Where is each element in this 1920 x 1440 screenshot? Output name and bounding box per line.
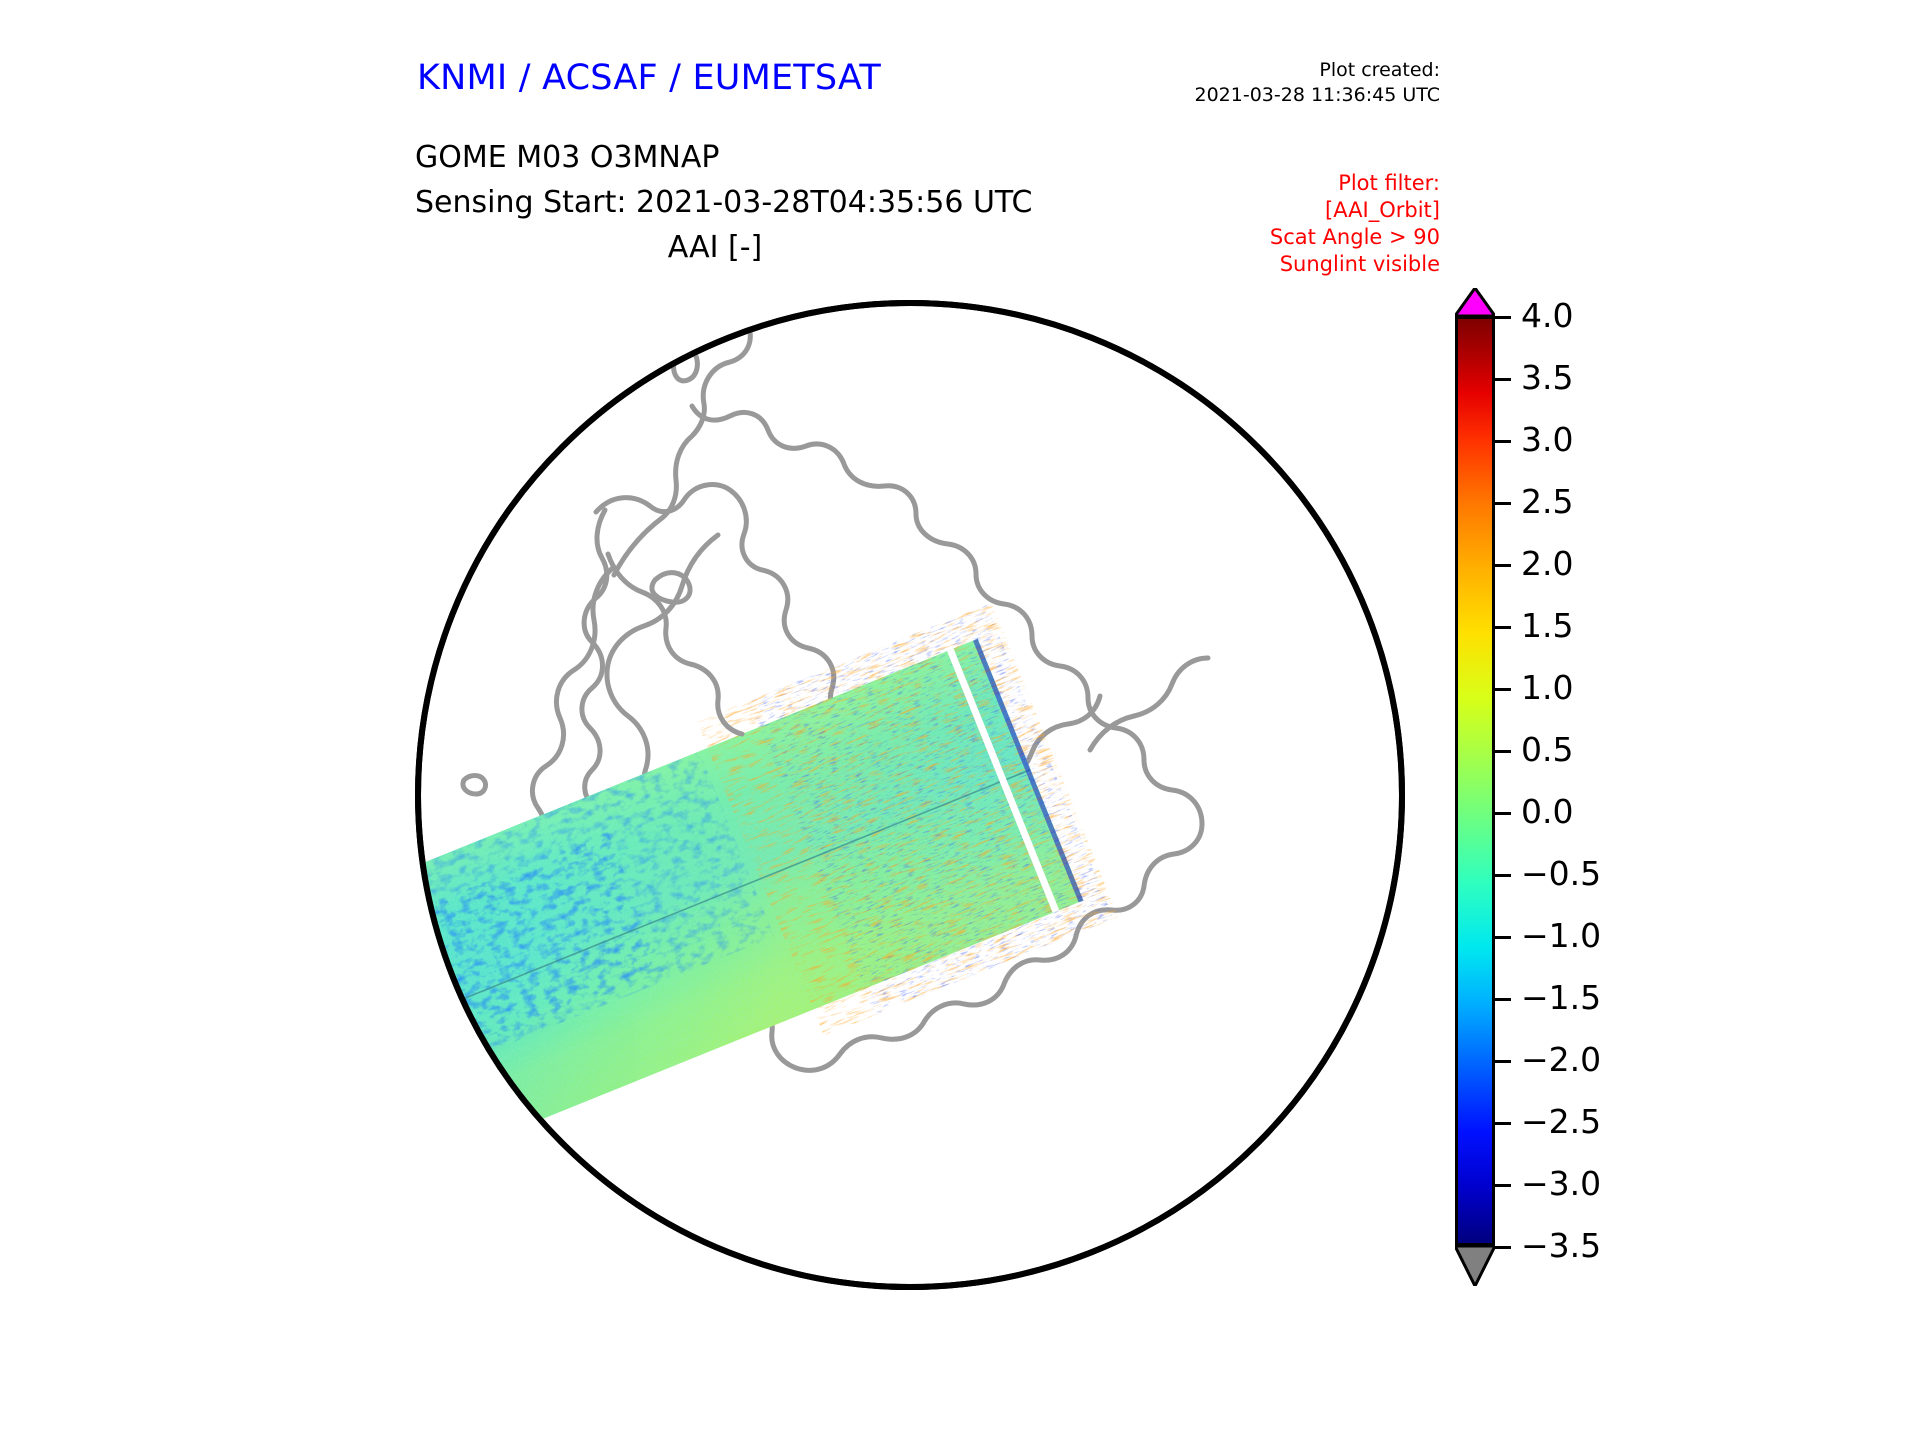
colorbar-label-neg3.5: −3.5	[1521, 1229, 1601, 1262]
colorbar-label-3.0: 3.0	[1521, 423, 1573, 456]
colorbar-under-arrow	[1455, 1246, 1495, 1286]
colorbar-tick	[1495, 1060, 1511, 1063]
colorbar-label-0.5: 0.5	[1521, 733, 1573, 766]
colorbar-tick	[1495, 440, 1511, 443]
colorbar-tick	[1495, 998, 1511, 1001]
colorbar-tick	[1495, 1184, 1511, 1187]
colorbar-tick	[1495, 1246, 1511, 1249]
product-title: GOME M03 O3MNAP	[415, 140, 719, 175]
colorbar-label-4.0: 4.0	[1521, 299, 1573, 332]
plot-filter-sunglint: Sunglint visible	[1020, 251, 1440, 278]
colorbar-label-neg2.0: −2.0	[1521, 1043, 1601, 1076]
plot-filter-name: [AAI_Orbit]	[1020, 197, 1440, 224]
map-plot-area	[400, 280, 1420, 1310]
plot-created-block: Plot created: 2021-03-28 11:36:45 UTC	[1020, 58, 1440, 108]
colorbar-label-neg1.0: −1.0	[1521, 919, 1601, 952]
colorbar-label-2.0: 2.0	[1521, 547, 1573, 580]
colorbar-label-2.5: 2.5	[1521, 485, 1573, 518]
colorbar-tick	[1495, 936, 1511, 939]
plot-created-label: Plot created:	[1020, 58, 1440, 83]
colorbar-label-neg3.0: −3.0	[1521, 1167, 1601, 1200]
plot-filter-scat-angle: Scat Angle > 90	[1020, 224, 1440, 251]
plot-filter-label: Plot filter:	[1020, 170, 1440, 197]
colorbar-tick	[1495, 750, 1511, 753]
colorbar-label-0.0: 0.0	[1521, 795, 1573, 828]
colorbar-tick	[1495, 626, 1511, 629]
colorbar-tick	[1495, 688, 1511, 691]
colorbar-tick	[1495, 316, 1511, 319]
colorbar-tick	[1495, 564, 1511, 567]
colorbar-label-neg0.5: −0.5	[1521, 857, 1601, 890]
colorbar-over-arrow	[1455, 288, 1495, 316]
colorbar-tick	[1495, 1122, 1511, 1125]
colorbar-gradient	[1455, 316, 1495, 1246]
colorbar-label-1.5: 1.5	[1521, 609, 1573, 642]
colorbar-label-1.0: 1.0	[1521, 671, 1573, 704]
plot-filter-block: Plot filter: [AAI_Orbit] Scat Angle > 90…	[1020, 170, 1440, 278]
colorbar-tick	[1495, 502, 1511, 505]
colorbar-tick	[1495, 812, 1511, 815]
coast-island-top-left	[534, 361, 571, 393]
colorbar-label-neg2.5: −2.5	[1521, 1105, 1601, 1138]
page-title-organisations: KNMI / ACSAF / EUMETSAT	[417, 58, 881, 98]
colorbar-tick	[1495, 378, 1511, 381]
colorbar: 4.0 3.5 3.0 2.5 2.0 1.5 1.0 0.5 0.0 −0.5…	[1455, 288, 1755, 1298]
sensing-start-label: Sensing Start: 2021-03-28T04:35:56 UTC	[415, 185, 1032, 220]
colorbar-label-3.5: 3.5	[1521, 361, 1573, 394]
colorbar-tick	[1495, 874, 1511, 877]
polar-map-svg	[400, 280, 1420, 1310]
colorbar-label-neg1.5: −1.5	[1521, 981, 1601, 1014]
plot-created-timestamp: 2021-03-28 11:36:45 UTC	[1020, 83, 1440, 108]
